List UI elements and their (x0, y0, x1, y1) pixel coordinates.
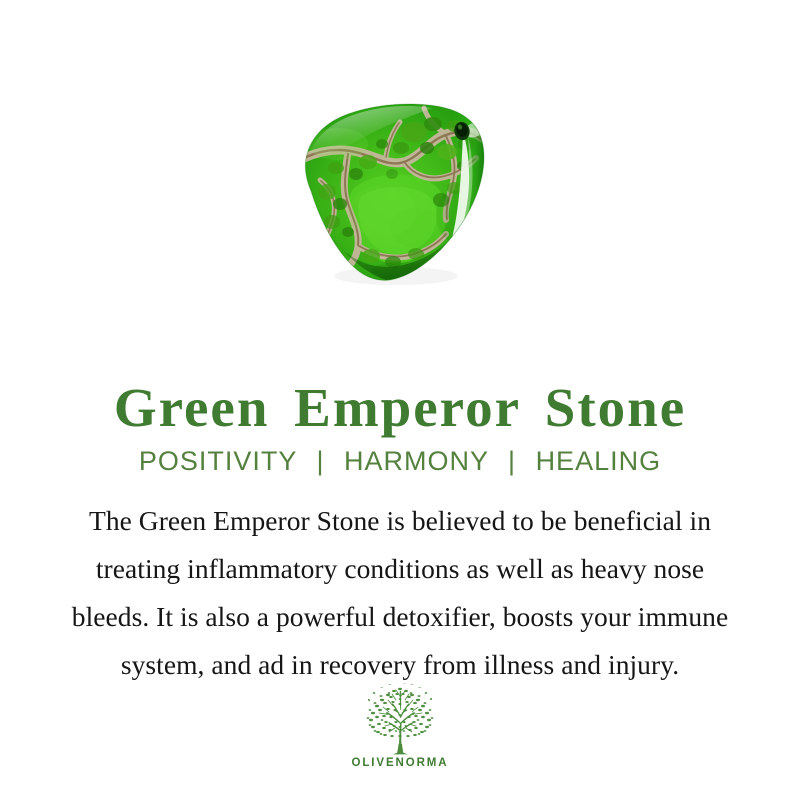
description-line-3: bleeds. It is also a powerful detoxifier… (45, 593, 755, 641)
product-description: The Green Emperor Stone is believed to b… (45, 497, 755, 689)
description-line-1: The Green Emperor Stone is believed to b… (45, 497, 755, 545)
stone-illustration (296, 96, 496, 286)
page-title: Green Emperor Stone (0, 373, 800, 443)
keyword-healing: HEALING (536, 446, 662, 476)
keywords-row: POSITIVITY | HARMONY | HEALING (0, 444, 800, 478)
brand-logo: OLIVENORMA (0, 682, 800, 769)
keyword-positivity: POSITIVITY (139, 446, 297, 476)
keyword-harmony: HARMONY (344, 446, 489, 476)
product-info-card: Green Emperor Stone POSITIVITY | HARMONY… (0, 0, 800, 800)
keyword-separator-2: | (497, 444, 527, 478)
product-image-area (0, 78, 800, 298)
description-line-2: treating inflammatory conditions as well… (45, 545, 755, 593)
keyword-separator-1: | (305, 444, 335, 478)
brand-wordmark: OLIVENORMA (0, 757, 800, 769)
green-emperor-stone-image (296, 96, 496, 286)
olive-tree-icon (358, 682, 442, 756)
